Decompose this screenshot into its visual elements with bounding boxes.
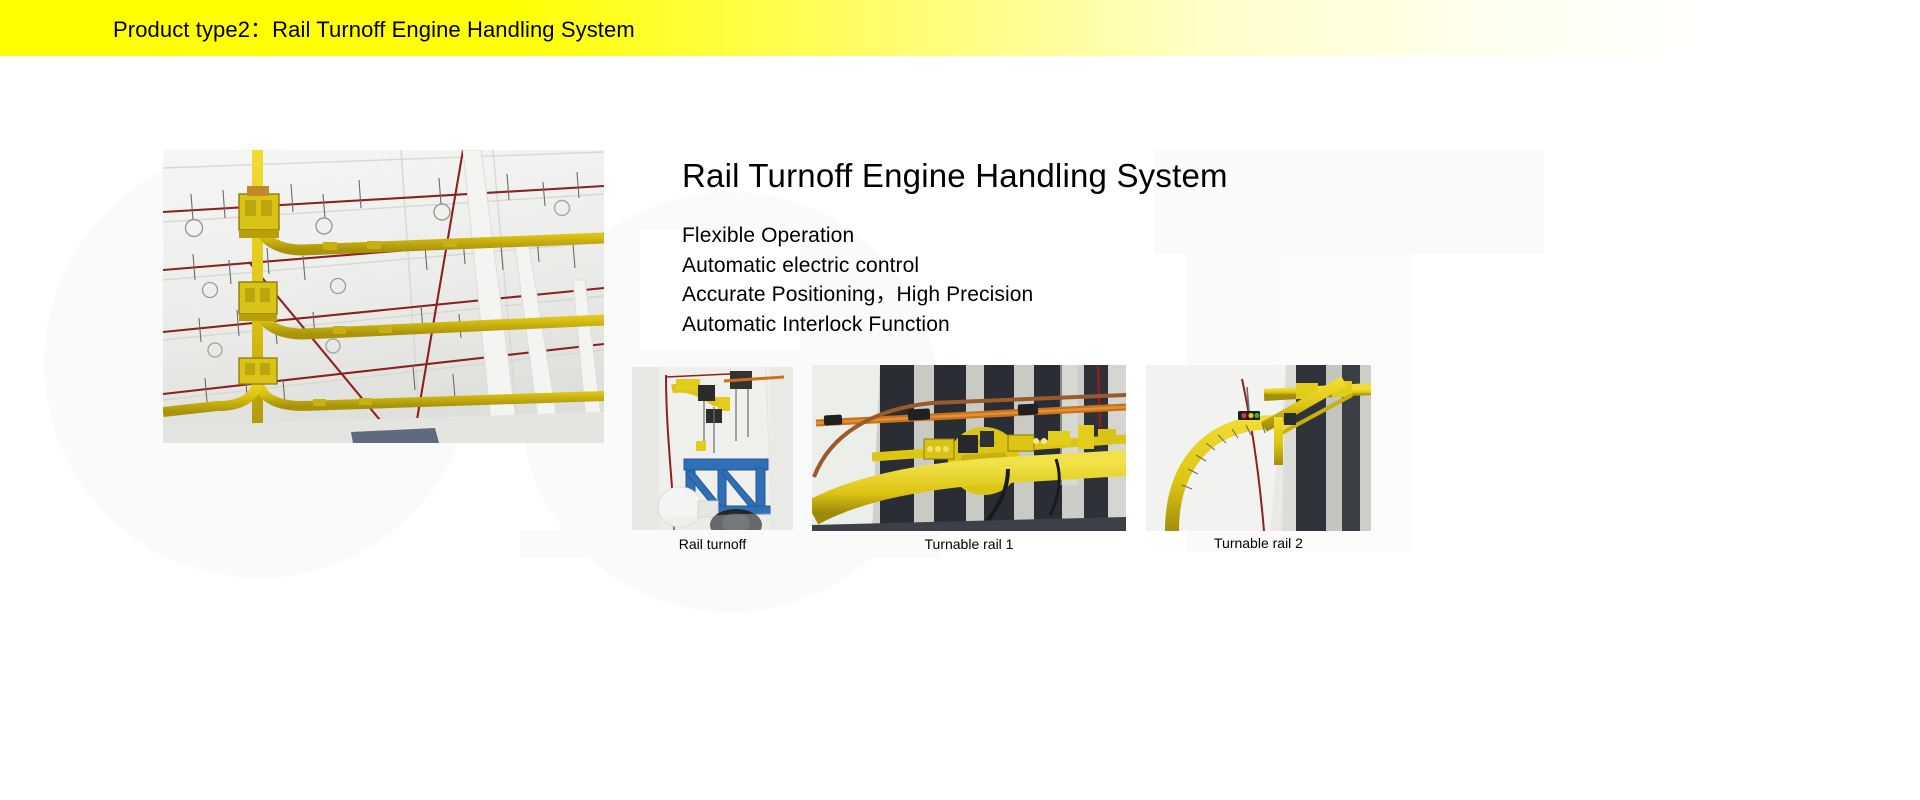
thumbnail-item: Rail turnoff [632, 367, 793, 553]
feature-item-2: Automatic electric control [682, 251, 1442, 281]
thumbnail-item: Turnable rail 2 [1146, 365, 1371, 552]
thumbnail-gallery: Rail turnoff [632, 365, 1432, 565]
feature-item-1: Flexible Operation [682, 221, 1442, 251]
thumbnail-image-turnable-rail-1 [812, 365, 1126, 531]
thumbnail-image-rail-turnoff [632, 367, 793, 530]
thumbnail-image-turnable-rail-2 [1146, 365, 1371, 531]
banner-title: Product type2：Rail Turnoff Engine Handli… [113, 12, 635, 44]
hero-photo-rail-system [163, 150, 604, 443]
thumbnail-caption: Turnable rail 2 [1146, 534, 1371, 552]
thumbnail-caption: Turnable rail 1 [812, 535, 1126, 553]
thumbnail-3-graphic [1146, 365, 1371, 531]
thumbnail-item: Turnable rail 1 [812, 365, 1126, 553]
thumbnail-1-graphic [632, 367, 793, 530]
thumbnail-caption: Rail turnoff [632, 535, 793, 553]
feature-item-3: Accurate Positioning，High Precision [682, 280, 1442, 310]
hero-photo-image [163, 150, 604, 443]
content-column: Rail Turnoff Engine Handling System Flex… [682, 155, 1442, 339]
feature-list: Flexible Operation Automatic electric co… [682, 221, 1442, 339]
thumbnail-2-graphic [812, 365, 1126, 531]
page-title: Rail Turnoff Engine Handling System [682, 155, 1442, 197]
feature-item-4: Automatic Interlock Function [682, 310, 1442, 340]
product-type-banner: Product type2：Rail Turnoff Engine Handli… [0, 0, 1920, 56]
